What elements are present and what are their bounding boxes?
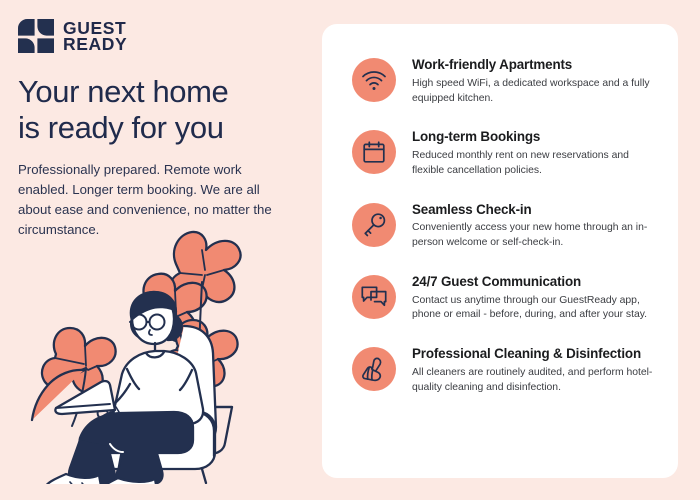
feature-title: Long-term Bookings [412,129,658,146]
hero-illustration [26,222,316,484]
feature-body: Work-friendly Apartments High speed WiFi… [412,56,658,106]
marketing-page: GUEST READY Your next home is ready for … [0,0,700,500]
illustration-caption: Woman sitting in an armchair working on … [0,0,1,1]
feature-description: Conveniently access your new home throug… [412,221,658,251]
feature-body: Long-term Bookings Reduced monthly rent … [412,128,658,178]
key-icon [352,203,396,247]
feature-item-professional-cleaning[interactable]: Professional Cleaning & Disinfection All… [352,345,658,395]
feature-item-seamless-check-in[interactable]: Seamless Check-in Conveniently access yo… [352,201,658,251]
feature-description: Contact us anytime through our GuestRead… [412,294,658,324]
broom-icon [352,347,396,391]
feature-description: Reduced monthly rent on new reservations… [412,149,658,179]
feature-item-work-friendly-apartments[interactable]: Work-friendly Apartments High speed WiFi… [352,56,658,106]
feature-item-guest-communication[interactable]: 24/7 Guest Communication Contact us anyt… [352,273,658,323]
headline-line-1: Your next home [18,74,308,110]
calendar-icon [352,130,396,174]
feature-body: Professional Cleaning & Disinfection All… [412,345,658,395]
brand-wordmark: GUEST READY [63,20,127,52]
headline-line-2: is ready for you [18,110,308,146]
brand-logo[interactable]: GUEST READY [18,19,127,53]
guestready-quadrant-logo-icon [18,19,54,53]
feature-title: 24/7 Guest Communication [412,274,658,291]
chat-bubbles-icon [352,275,396,319]
feature-description: High speed WiFi, a dedicated workspace a… [412,77,658,107]
feature-body: Seamless Check-in Conveniently access yo… [412,201,658,251]
feature-title: Seamless Check-in [412,202,658,219]
page-headline: Your next home is ready for you [18,74,308,146]
feature-body: 24/7 Guest Communication Contact us anyt… [412,273,658,323]
feature-item-long-term-bookings[interactable]: Long-term Bookings Reduced monthly rent … [352,128,658,178]
feature-title: Professional Cleaning & Disinfection [412,346,658,363]
hero-column: GUEST READY Your next home is ready for … [0,0,322,500]
brand-line-2: READY [63,36,127,52]
features-card: Work-friendly Apartments High speed WiFi… [322,24,678,478]
feature-list: Work-friendly Apartments High speed WiFi… [322,24,678,395]
feature-title: Work-friendly Apartments [412,57,658,74]
feature-description: All cleaners are routinely audited, and … [412,366,658,396]
wifi-icon [352,58,396,102]
